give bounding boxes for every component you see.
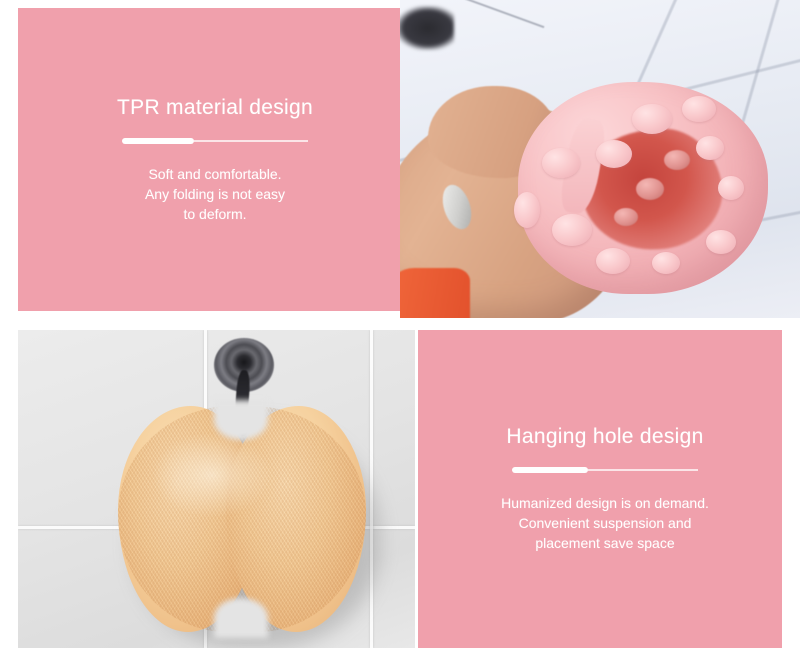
tpr-body-line-2: Any folding is not easy [145, 184, 285, 204]
pad-notch-top [214, 400, 268, 440]
brush-inner-nub [636, 178, 664, 200]
pad-notch-bottom [214, 598, 268, 638]
brush-nub [682, 96, 716, 122]
brush-nub [706, 230, 736, 254]
brush-nub [632, 104, 672, 134]
photo-hand-squeezing-brush [400, 0, 800, 318]
hanging-body-line-3: placement save space [501, 533, 709, 553]
hanging-title: Hanging hole design [506, 425, 703, 449]
brush-inner-nub [614, 208, 638, 226]
hanging-content-stack: Hanging hole design Humanized design is … [418, 425, 782, 553]
hanging-body-line-2: Convenient suspension and [501, 513, 709, 533]
divider-thick-segment [512, 467, 588, 473]
tpr-body-line-3: to deform. [145, 204, 285, 224]
brush-nub [596, 248, 630, 274]
brush-nub [552, 214, 592, 246]
product-feature-collage: TPR material design Soft and comfortable… [0, 0, 800, 666]
hanging-body-line-1: Humanized design is on demand. [501, 493, 709, 513]
feature-panel-tpr-material: TPR material design Soft and comfortable… [18, 8, 400, 311]
tpr-body-text: Soft and comfortable. Any folding is not… [145, 164, 285, 224]
brush-nub [596, 140, 632, 168]
tpr-body-line-1: Soft and comfortable. [145, 164, 285, 184]
hanging-divider [512, 467, 698, 473]
brush-nub [542, 148, 580, 178]
bristle-pad-assembly [118, 406, 366, 632]
orange-sleeve [400, 268, 470, 318]
divider-thin-segment [588, 469, 698, 471]
brush-inner-nub [664, 150, 690, 170]
brush-nub [718, 176, 744, 200]
feature-panel-hanging-hole: Hanging hole design Humanized design is … [418, 330, 782, 648]
brush-nub [696, 136, 724, 160]
brush-nub [514, 192, 540, 228]
tpr-divider [122, 138, 308, 144]
photo-brush-hanging-on-wall [18, 330, 415, 648]
dark-object-top-left [400, 6, 454, 50]
tpr-title: TPR material design [117, 96, 313, 120]
hanging-body-text: Humanized design is on demand. Convenien… [501, 493, 709, 553]
tpr-content-stack: TPR material design Soft and comfortable… [18, 96, 400, 224]
divider-thick-segment [122, 138, 194, 144]
divider-thin-segment [194, 140, 308, 142]
brush-nub [652, 252, 680, 274]
pad-highlight [152, 432, 272, 518]
